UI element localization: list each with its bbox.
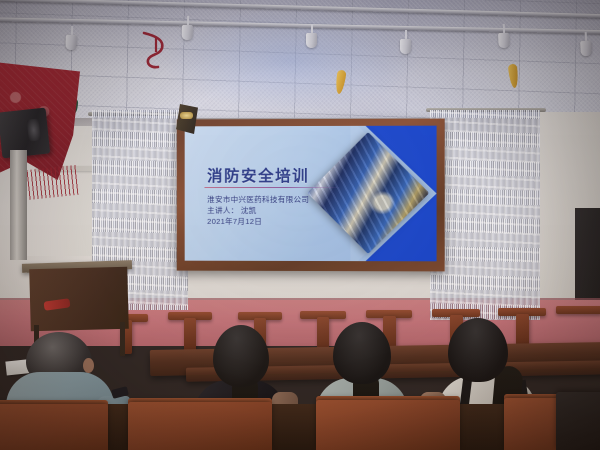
wooden-screen-frame: 消防安全培训 淮安市中兴医药科技有限公司 主讲人： 沈凯 2021年7月12日	[177, 119, 445, 272]
track-light-icon	[400, 30, 411, 43]
wall-lamp-icon	[176, 104, 198, 134]
track-light-icon	[182, 16, 193, 29]
person-head	[333, 322, 391, 384]
slide-date: 2021年7月12日	[207, 215, 309, 226]
person-ear	[83, 358, 94, 373]
red-ribbon-decoration-icon	[138, 30, 172, 70]
foreground-dark-bag	[556, 392, 600, 450]
side-desk-body	[29, 267, 129, 332]
slide-presenter: 主讲人： 沈凯	[207, 204, 309, 215]
silver-tinsel-curtain-right	[430, 110, 540, 320]
foreground-bench-back	[316, 400, 460, 450]
speaker-stand-pole	[10, 150, 27, 260]
track-light-icon	[580, 32, 592, 46]
desk-leg	[120, 322, 125, 356]
projection-screen[interactable]: 消防安全培训 淮安市中兴医药科技有限公司 主讲人： 沈凯 2021年7月12日	[185, 126, 437, 262]
slide-company: 淮安市中兴医药科技有限公司	[207, 194, 309, 205]
meeting-room-photo: 消防安全培训 淮安市中兴医药科技有限公司 主讲人： 沈凯 2021年7月12日	[0, 0, 600, 450]
slide-title-rule	[205, 187, 341, 188]
person-head	[448, 318, 508, 382]
person-head	[213, 325, 269, 387]
track-light-icon	[66, 26, 77, 39]
track-light-icon	[306, 24, 317, 37]
foreground-bench-back	[0, 404, 108, 450]
track-light-icon	[498, 24, 509, 37]
wooden-bench-row	[556, 306, 600, 314]
slide-subtitle-block: 淮安市中兴医药科技有限公司 主讲人： 沈凯 2021年7月12日	[207, 194, 309, 227]
foreground-bench-back	[128, 402, 272, 450]
slide-title: 消防安全培训	[207, 164, 309, 186]
